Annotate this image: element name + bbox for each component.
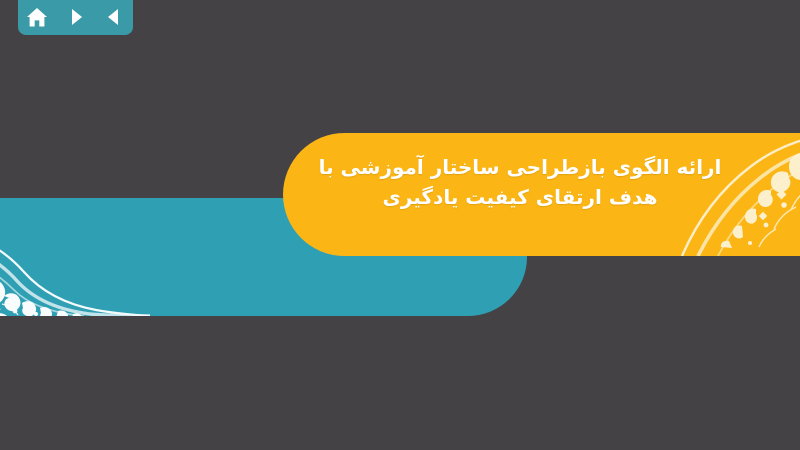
teal-arabesque-ornament-icon: [0, 198, 150, 316]
previous-slide-icon: [104, 7, 124, 27]
next-slide-icon: [66, 7, 86, 27]
home-button[interactable]: [23, 4, 51, 30]
presentation-slide: ارائه الگوی بازطراحی ساختار آموزشی با هد…: [0, 0, 800, 450]
slide-title: ارائه الگوی بازطراحی ساختار آموزشی با هد…: [300, 152, 740, 213]
title-line-1: ارائه الگوی بازطراحی ساختار آموزشی با: [300, 152, 740, 182]
home-icon: [26, 7, 48, 28]
next-slide-button[interactable]: [62, 4, 90, 30]
navigation-toolbar[interactable]: [18, 0, 133, 35]
previous-slide-button[interactable]: [100, 4, 128, 30]
title-line-2: هدف ارتقای کیفیت یادگیری: [300, 182, 740, 212]
